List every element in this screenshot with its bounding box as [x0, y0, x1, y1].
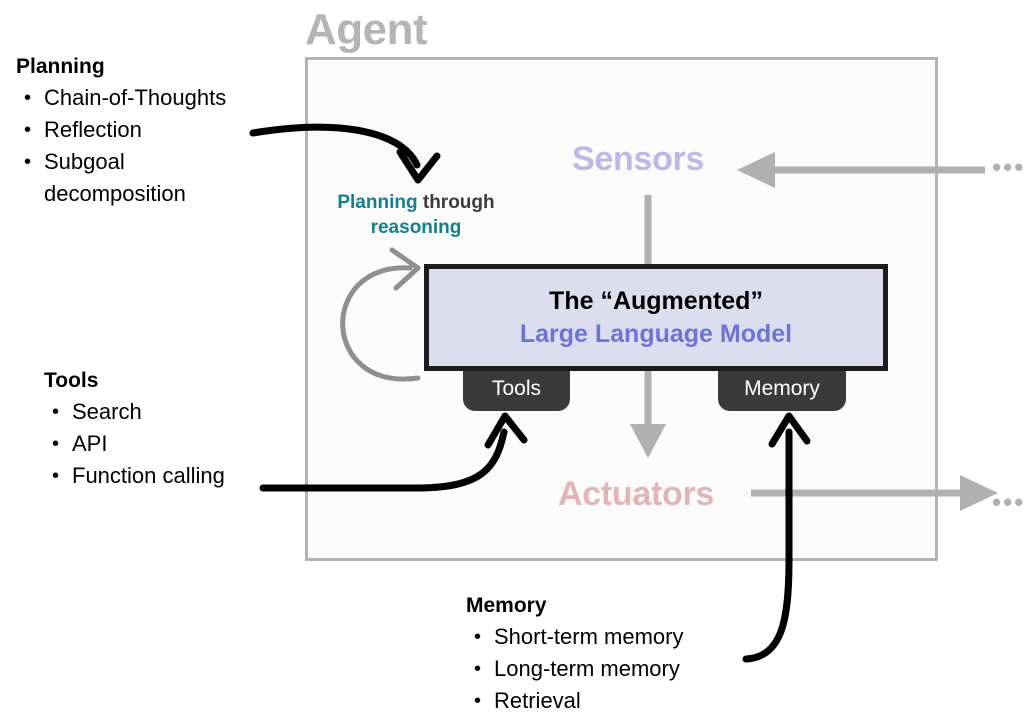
black-connector-layer — [0, 0, 1032, 720]
memory-callout-arrow — [746, 416, 807, 659]
planning-callout-arrow — [253, 127, 437, 180]
tools-callout-arrow — [263, 416, 524, 488]
diagram-canvas: Agent Sensors Actuators ••• ••• Tools Me… — [0, 0, 1032, 720]
